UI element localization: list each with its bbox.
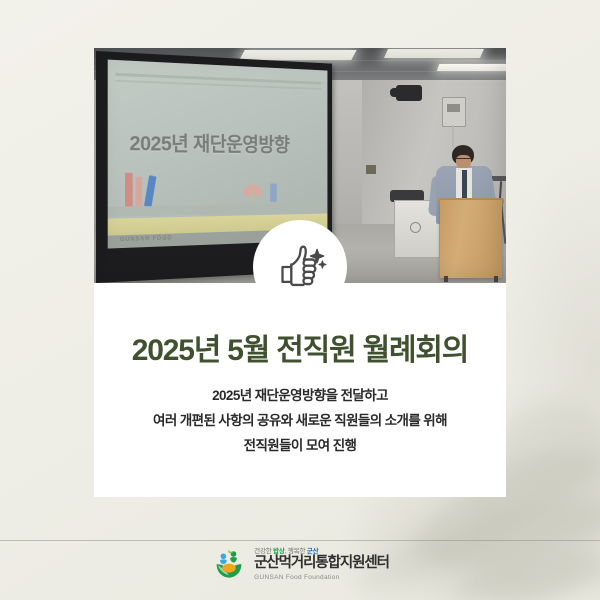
presenter-glasses bbox=[456, 158, 471, 162]
ceiling-light bbox=[384, 49, 484, 58]
subtitle-line: 2025년 재단운영방향을 전달하고 bbox=[0, 383, 600, 408]
podium bbox=[440, 200, 502, 278]
ceiling-light bbox=[239, 50, 356, 60]
podium-leg bbox=[444, 276, 448, 282]
subtitle-line: 전직원들이 모여 진행 bbox=[0, 433, 600, 458]
page-subtitle: 2025년 재단운영방향을 전달하고 여러 개편된 사항의 공유와 새로운 직원… bbox=[0, 383, 600, 458]
thumbs-up-icon bbox=[272, 239, 328, 295]
poster-canvas: 2025년 재단운영방향 GUNSAN FOOD bbox=[0, 0, 600, 600]
subtitle-line: 여러 개편된 사항의 공유와 새로운 직원들의 소개를 위해 bbox=[0, 408, 600, 433]
slide-lamp-stem bbox=[252, 189, 255, 204]
wall-conduit bbox=[452, 125, 454, 147]
ceiling-light bbox=[437, 64, 506, 71]
footer-logo: 건강한 밥상, 행복한 군산 군산먹거리통합지원센터 GUNSAN Food F… bbox=[0, 545, 600, 581]
ceiling-projector bbox=[396, 85, 422, 101]
footer-divider bbox=[0, 540, 600, 541]
presenter-tie bbox=[462, 170, 467, 200]
page-title: 2025년 5월 전직원 월례회의 bbox=[0, 325, 600, 369]
slide-book-illustration bbox=[125, 173, 133, 207]
podium-leg bbox=[494, 276, 498, 282]
slide-book-illustration bbox=[135, 177, 142, 206]
footer-tagline: 건강한 밥상, 행복한 군산 bbox=[254, 545, 389, 555]
side-desk bbox=[492, 176, 506, 181]
gunsan-food-foundation-logo-icon bbox=[211, 545, 247, 581]
footer-org-name-ko: 군산먹거리통합지원센터 bbox=[254, 556, 389, 571]
thumbs-up-badge bbox=[253, 220, 347, 314]
slide-book-illustration bbox=[144, 175, 157, 207]
footer-org-name-en: GUNSAN Food Foundation bbox=[254, 574, 389, 581]
slide-pencup-illustration bbox=[271, 184, 278, 202]
wall-outlet bbox=[366, 165, 376, 174]
wall-control-box bbox=[442, 97, 466, 127]
slide-title-text: 2025년 재단운영방향 bbox=[130, 128, 290, 158]
footer-text-block: 건강한 밥상, 행복한 군산 군산먹거리통합지원센터 GUNSAN Food F… bbox=[254, 545, 389, 580]
cabinet-knob bbox=[410, 222, 421, 233]
